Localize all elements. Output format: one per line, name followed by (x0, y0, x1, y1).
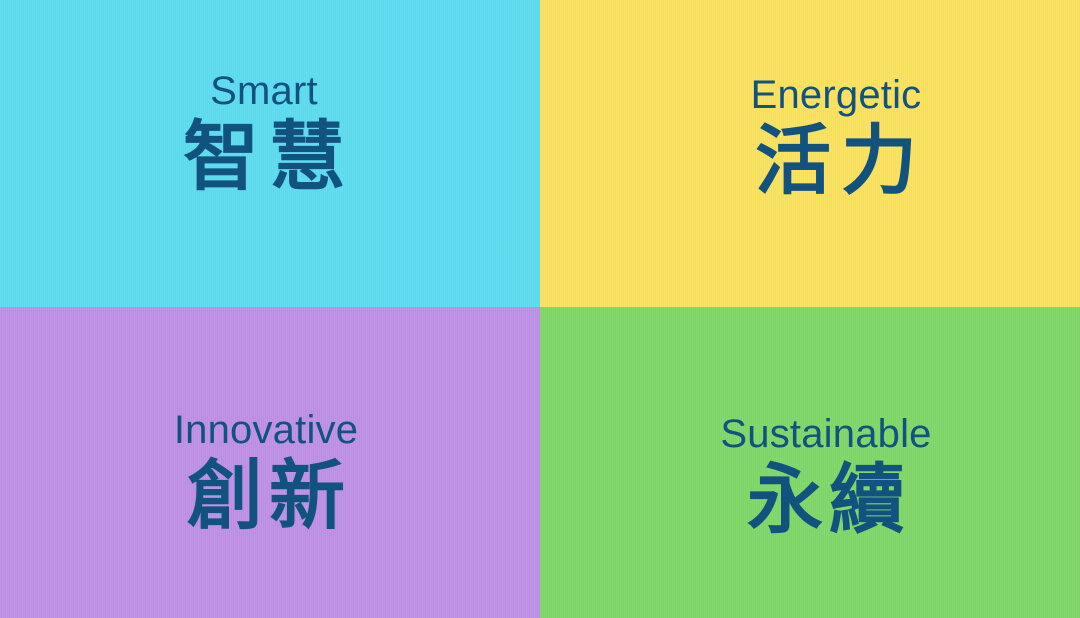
panel-sustainable-content: Sustainable 永續 (720, 414, 931, 540)
panel-energetic: Energetic 活力 (540, 0, 1080, 307)
panel-smart-chinese-label: 智慧 (173, 117, 355, 197)
panel-sustainable: Sustainable 永續 (540, 307, 1080, 618)
panel-innovative-english-label: Innovative (174, 410, 358, 450)
panel-sustainable-chinese-label: 永續 (741, 460, 911, 540)
panel-smart: Smart 智慧 (0, 0, 540, 307)
brand-values-quadrant-board: Smart 智慧 Energetic 活力 Innovative 創新 Sust… (0, 0, 1080, 618)
panel-smart-content: Smart 智慧 (173, 71, 355, 197)
panel-energetic-english-label: Energetic (751, 75, 922, 115)
panel-energetic-content: Energetic 活力 (745, 75, 927, 201)
panel-innovative: Innovative 創新 (0, 307, 540, 618)
panel-innovative-chinese-label: 創新 (181, 456, 351, 536)
panel-energetic-chinese-label: 活力 (745, 121, 927, 201)
panel-smart-english-label: Smart (210, 71, 318, 111)
panel-innovative-content: Innovative 創新 (174, 410, 358, 536)
panel-sustainable-english-label: Sustainable (720, 414, 931, 454)
